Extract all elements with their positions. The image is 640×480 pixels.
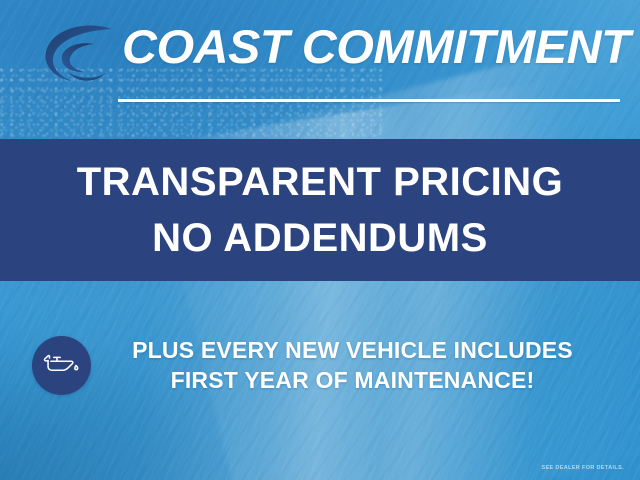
disclaimer-text: SEE DEALER FOR DETAILS.	[541, 465, 624, 471]
banner-header: COAST COMMITMENT	[0, 0, 640, 139]
coast-commitment-banner: COAST COMMITMENT TRANSPARENT PRICING NO …	[0, 0, 640, 480]
promo-line-2: FIRST YEAR OF MAINTENANCE!	[99, 365, 606, 395]
promo-text: PLUS EVERY NEW VEHICLE INCLUDES FIRST YE…	[91, 335, 640, 395]
oil-can-icon	[42, 349, 82, 381]
header-divider	[118, 99, 620, 102]
headline-line-2: NO ADDENDUMS	[152, 210, 488, 266]
brand-title: COAST COMMITMENT	[122, 21, 637, 73]
headline-line-1: TRANSPARENT PRICING	[77, 154, 564, 210]
promo-icon-badge	[32, 336, 91, 395]
headline-band: TRANSPARENT PRICING NO ADDENDUMS	[0, 139, 640, 281]
promo-line-1: PLUS EVERY NEW VEHICLE INCLUDES	[99, 335, 606, 365]
coast-wave-swirl-logo-icon	[38, 22, 118, 88]
promo-row: PLUS EVERY NEW VEHICLE INCLUDES FIRST YE…	[0, 320, 640, 410]
